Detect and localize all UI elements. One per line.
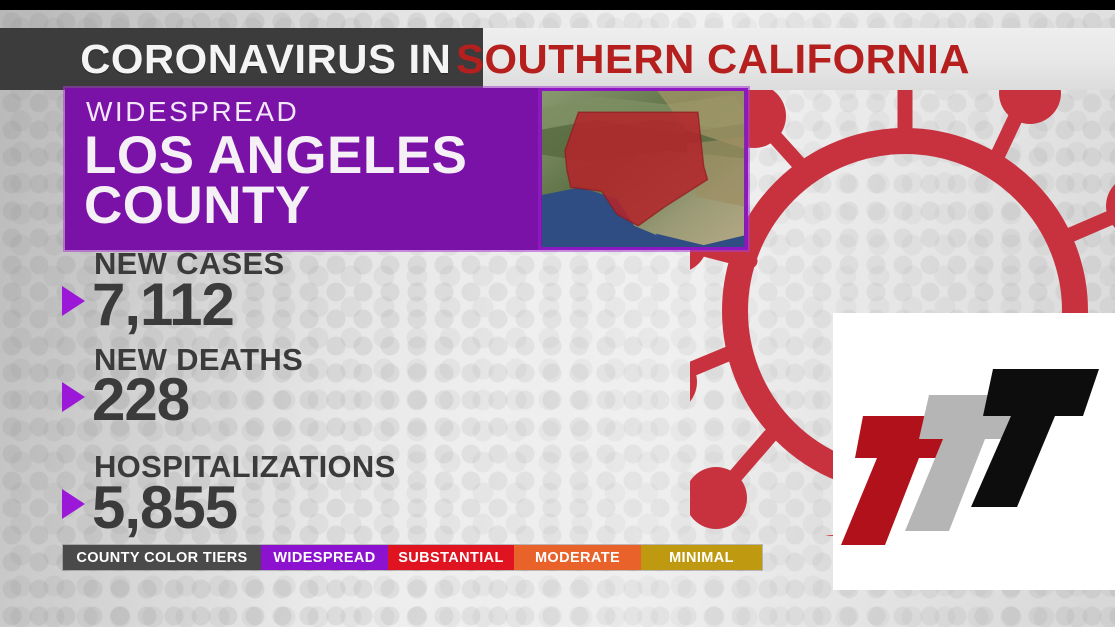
county-banner: WIDESPREAD LOS ANGELES COUNTY [65, 88, 748, 250]
tier-moderate: MODERATE [514, 545, 641, 570]
triangle-bullet-icon [62, 286, 85, 316]
title-secondary: SOUTHERN CALIFORNIA [442, 36, 970, 83]
county-banner-text: WIDESPREAD LOS ANGELES COUNTY [80, 92, 550, 232]
stats-list: NEW CASES 7,112 NEW DEATHS 228 HOSPITALI… [62, 248, 582, 537]
tier-widespread: WIDESPREAD [261, 545, 388, 570]
county-tier-label: WIDESPREAD [86, 96, 550, 128]
letterbox-bar [0, 0, 1115, 10]
triangle-bullet-icon [62, 382, 85, 412]
title-primary: CORONAVIRUS IN [0, 36, 451, 83]
stat-value: 5,855 [92, 480, 582, 535]
tier-minimal: MINIMAL [641, 545, 762, 570]
stat-value: 7,112 [92, 277, 582, 332]
stat-hospitalizations: HOSPITALIZATIONS 5,855 [62, 451, 582, 535]
tier-legend-caption: COUNTY COLOR TIERS [63, 545, 261, 570]
stat-value: 228 [92, 372, 582, 427]
stat-new-deaths: NEW DEATHS 228 [62, 344, 582, 428]
county-name-line2: COUNTY [84, 181, 550, 231]
network-logo [833, 313, 1115, 590]
page-title: CORONAVIRUS IN SOUTHERN CALIFORNIA [0, 28, 1115, 90]
broadcast-screen: CORONAVIRUS IN SOUTHERN CALIFORNIA WIDES… [0, 0, 1115, 627]
triangle-bullet-icon [62, 489, 85, 519]
county-name-line1: LOS ANGELES [84, 131, 550, 181]
county-color-tier-legend: COUNTY COLOR TIERS WIDESPREAD SUBSTANTIA… [63, 545, 762, 570]
county-map-thumbnail [538, 88, 748, 250]
stat-new-cases: NEW CASES 7,112 [62, 248, 582, 332]
county-name: LOS ANGELES COUNTY [84, 131, 550, 232]
tier-substantial: SUBSTANTIAL [388, 545, 514, 570]
